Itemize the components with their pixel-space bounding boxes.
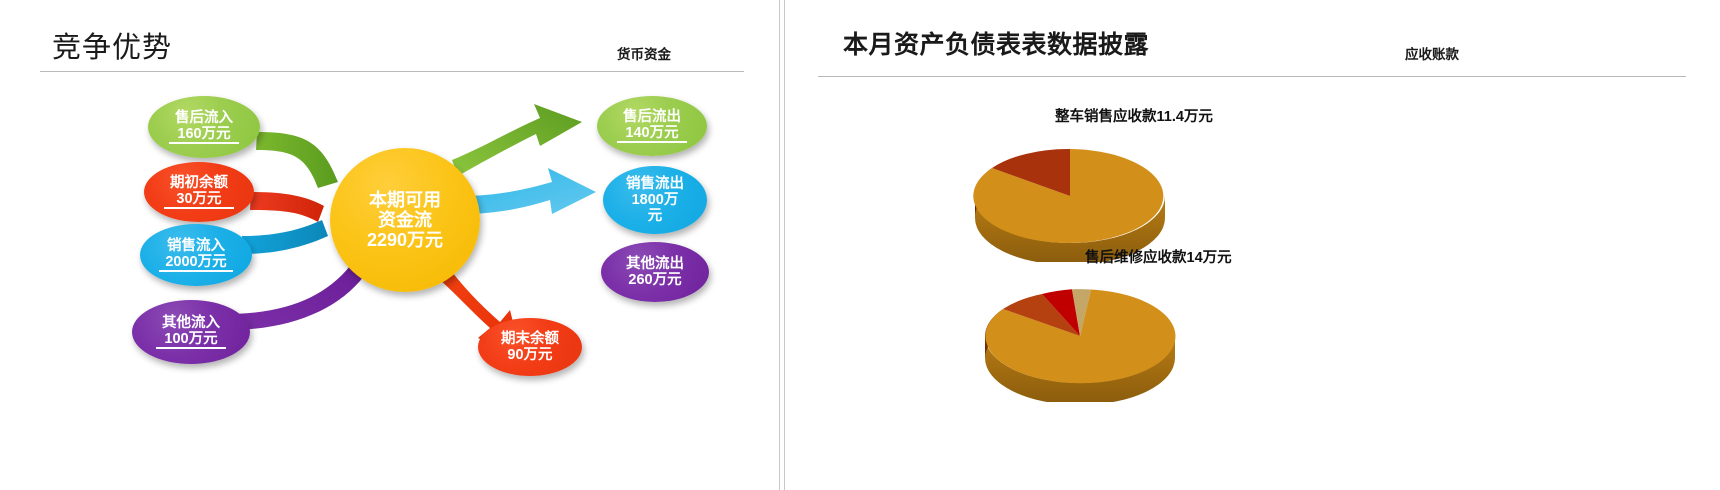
node-value: 30万元 <box>164 191 234 209</box>
node-value: 260万元 <box>620 272 690 288</box>
node-other-inflow[interactable]: 其他流入 100万元 <box>132 300 250 364</box>
node-label: 期末余额 <box>495 331 565 347</box>
node-other-outflow[interactable]: 其他流出 260万元 <box>601 242 709 302</box>
node-value: 90万元 <box>495 347 565 363</box>
node-available-cash-flow[interactable]: 本期可用 资金流 2290万元 <box>330 148 480 292</box>
node-value-cont: 元 <box>620 208 690 224</box>
chart-title: 售后维修应收款14万元 <box>1085 246 1232 267</box>
center-line-1: 本期可用 <box>361 190 449 210</box>
node-label: 其他流入 <box>156 315 226 331</box>
slide-competitive-advantage: 竞争优势 货币资金 <box>0 0 779 490</box>
node-label: 销售流出 <box>620 176 690 192</box>
center-line-2: 资金流 <box>361 210 449 230</box>
node-label: 其他流出 <box>620 256 690 272</box>
node-value: 100万元 <box>156 331 226 349</box>
node-label: 销售流入 <box>159 238 232 254</box>
slide-deck: 竞争优势 货币资金 <box>0 0 1720 490</box>
center-line-3: 2290万元 <box>361 230 449 250</box>
pie-chart-graphic <box>945 272 1215 402</box>
node-sales-inflow[interactable]: 销售流入 2000万元 <box>140 224 252 286</box>
node-label: 期初余额 <box>164 175 234 191</box>
node-value: 1800万 <box>620 192 690 208</box>
node-after-sales-outflow[interactable]: 售后流出 140万元 <box>597 96 707 156</box>
cash-flow-mindmap: 售后流入 160万元 期初余额 30万元 销售流入 2000万元 其他流入 <box>0 0 779 490</box>
slide-balance-sheet-disclosure: 本月资产负债表表数据披露 应收账款 整车销售应收款11.4万元 <box>785 0 1720 490</box>
node-sales-outflow[interactable]: 销售流出 1800万 元 <box>603 166 707 234</box>
node-value: 160万元 <box>169 126 239 144</box>
node-ending-balance[interactable]: 期末余额 90万元 <box>478 318 582 376</box>
chart-after-sales-repair-receivables: 售后维修应收款14万元 1.2, 9 <box>785 0 1720 250</box>
node-value: 2000万元 <box>159 254 232 272</box>
node-after-sales-inflow[interactable]: 售后流入 160万元 <box>148 96 260 158</box>
node-label: 售后流入 <box>169 110 239 126</box>
node-opening-balance[interactable]: 期初余额 30万元 <box>144 162 254 222</box>
node-label: 售后流出 <box>617 109 687 125</box>
node-value: 140万元 <box>617 125 687 143</box>
